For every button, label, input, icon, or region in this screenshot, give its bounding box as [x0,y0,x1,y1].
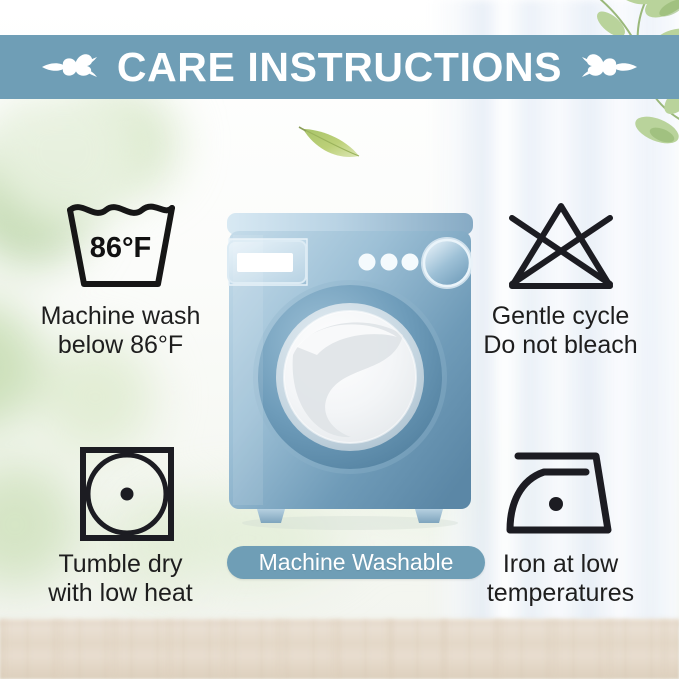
page-title: CARE INSTRUCTIONS [117,47,562,88]
symbol-caption-tumble-dry: Tumble dry with low heat [8,550,233,608]
symbol-gentle-cycle-no-bleach: Gentle cycle Do not bleach [448,196,673,360]
fleur-de-lis-icon-right [580,46,638,88]
floating-leaf-icon [297,120,367,165]
symbol-iron: Iron at low temperatures [448,444,673,608]
care-instructions-graphic: CARE INSTRUCTIONS [0,0,679,679]
symbol-machine-wash: 86°F Machine wash below 86°F [8,196,233,360]
header-banner: CARE INSTRUCTIONS [0,35,679,99]
triangle-crossed-out-icon [448,196,673,296]
machine-washable-badge: Machine Washable [227,546,485,579]
symbol-tumble-dry: Tumble dry with low heat [8,444,233,608]
wood-grain [0,619,679,679]
wash-temperature-value: 86°F [56,234,186,263]
symbol-caption-gentle-cycle: Gentle cycle Do not bleach [448,302,673,360]
iron-icon [448,444,673,544]
symbol-caption-machine-wash: Machine wash below 86°F [8,302,233,360]
fleur-de-lis-icon-left [41,46,99,88]
wash-tub-icon: 86°F [8,196,233,296]
badge-label: Machine Washable [259,551,454,574]
tumble-dry-square-icon [8,444,233,544]
washing-machine-illustration [225,205,475,535]
